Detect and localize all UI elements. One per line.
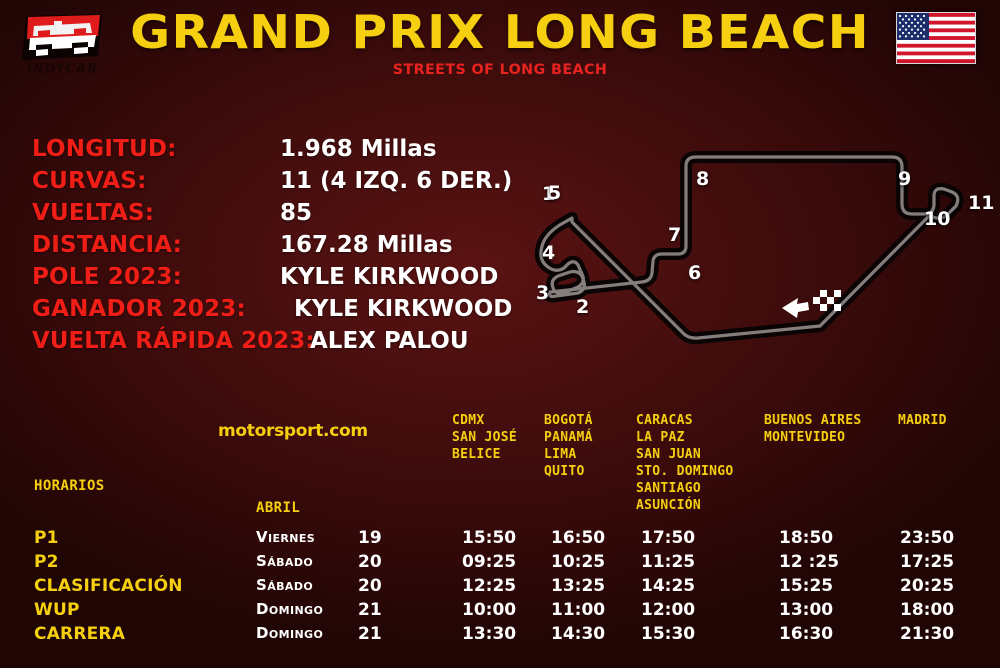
session-time: 14:30 [551, 624, 605, 644]
stat-row-curvas: CURVAS: 11 (4 IZQ. 6 DER.) [32, 168, 532, 200]
timezone-city: SAN JOSÉ [452, 429, 517, 446]
timezone-city: LIMA [544, 446, 593, 463]
schedule-month: ABRIL [256, 500, 300, 516]
session-date: 20 [358, 552, 382, 572]
timezone-column-4: BUENOS AIRES MONTEVIDEO [764, 412, 862, 446]
stat-value: 167.28 Millas [280, 232, 453, 258]
session-time: 15:50 [462, 528, 516, 548]
session-time: 18:50 [779, 528, 833, 548]
timezone-city: SAN JUAN [636, 446, 734, 463]
timezone-city: BOGOTÁ [544, 412, 593, 429]
stat-row-pole: POLE 2023: KYLE KIRKWOOD [32, 264, 532, 296]
corner-label-7: 7 [668, 224, 681, 246]
stat-label: VUELTA RÁPIDA 2023: [32, 328, 315, 354]
session-time: 09:25 [462, 552, 516, 572]
session-time: 11:00 [551, 600, 605, 620]
session-day: Domingo [256, 624, 323, 642]
corner-label-10: 10 [924, 208, 950, 230]
session-time: 20:25 [900, 576, 954, 596]
infographic-root: INDYCAR GRAND PRIX LONG BEACH STREETS OF… [0, 0, 1000, 668]
page-subtitle: STREETS OF LONG BEACH [0, 60, 1000, 80]
timezone-city: PANAMÁ [544, 429, 593, 446]
session-time: 16:30 [779, 624, 833, 644]
timezone-column-1: CDMX SAN JOSÉ BELICE [452, 412, 517, 463]
session-time: 15:30 [641, 624, 695, 644]
corner-label-11: 11 [968, 192, 994, 214]
schedule-table: HORARIOS ABRIL P1 Viernes 19 15:50 16:50… [0, 470, 1000, 668]
stat-value: 1.968 Millas [280, 136, 437, 162]
session-time: 13:00 [779, 600, 833, 620]
corner-label-2: 2 [576, 296, 589, 318]
session-day: Sábado [256, 576, 313, 594]
page-title: GRAND PRIX LONG BEACH [0, 6, 1000, 58]
corner-label-9: 9 [898, 168, 911, 190]
session-name: CARRERA [34, 624, 125, 644]
session-time: 13:30 [462, 624, 516, 644]
session-name: P2 [34, 552, 59, 572]
session-date: 21 [358, 624, 382, 644]
corner-label-8: 8 [696, 168, 709, 190]
schedule-heading: HORARIOS [34, 478, 105, 494]
stat-row-ganador: GANADOR 2023: KYLE KIRKWOOD [32, 296, 532, 328]
session-time: 23:50 [900, 528, 954, 548]
stat-value: 85 [280, 200, 312, 226]
corner-label-5: 5 [548, 182, 561, 204]
table-row: CARRERA Domingo 21 13:30 14:30 15:30 16:… [0, 624, 1000, 648]
stat-value: KYLE KIRKWOOD [280, 264, 498, 290]
session-time: 16:50 [551, 528, 605, 548]
session-time: 12:25 [462, 576, 516, 596]
session-name: P1 [34, 528, 59, 548]
stat-value: ALEX PALOU [310, 328, 469, 354]
title-block: GRAND PRIX LONG BEACH STREETS OF LONG BE… [0, 6, 1000, 80]
stat-value: KYLE KIRKWOOD [294, 296, 512, 322]
stat-label: GANADOR 2023: [32, 296, 246, 322]
session-name: CLASIFICACIÓN [34, 576, 183, 596]
session-time: 12 :25 [779, 552, 839, 572]
session-time: 10:25 [551, 552, 605, 572]
stat-row-longitud: LONGITUD: 1.968 Millas [32, 136, 532, 168]
table-row: CLASIFICACIÓN Sábado 20 12:25 13:25 14:2… [0, 576, 1000, 600]
session-time: 10:00 [462, 600, 516, 620]
session-time: 11:25 [641, 552, 695, 572]
corner-label-3: 3 [536, 282, 549, 304]
session-date: 21 [358, 600, 382, 620]
table-row: WUP Domingo 21 10:00 11:00 12:00 13:00 1… [0, 600, 1000, 624]
timezone-city: MADRID [898, 412, 947, 429]
session-time: 13:25 [551, 576, 605, 596]
circuit-stats: LONGITUD: 1.968 Millas CURVAS: 11 (4 IZQ… [32, 136, 532, 360]
timezone-city: LA PAZ [636, 429, 734, 446]
stat-label: CURVAS: [32, 168, 146, 194]
corner-label-4: 4 [542, 242, 555, 264]
stat-label: DISTANCIA: [32, 232, 182, 258]
circuit-map: 1 2 3 4 5 6 7 8 9 10 11 [520, 130, 1000, 380]
stat-label: LONGITUD: [32, 136, 177, 162]
timezone-city: BUENOS AIRES [764, 412, 862, 429]
session-day: Viernes [256, 528, 315, 546]
session-name: WUP [34, 600, 80, 620]
timezone-column-5: MADRID [898, 412, 947, 429]
session-time: 17:50 [641, 528, 695, 548]
stat-label: POLE 2023: [32, 264, 182, 290]
session-day: Domingo [256, 600, 323, 618]
table-row: P1 Viernes 19 15:50 16:50 17:50 18:50 23… [0, 528, 1000, 552]
stat-label: VUELTAS: [32, 200, 154, 226]
session-time: 14:25 [641, 576, 695, 596]
session-time: 12:00 [641, 600, 695, 620]
session-date: 20 [358, 576, 382, 596]
circuit-map-graphic [520, 130, 1000, 380]
session-time: 17:25 [900, 552, 954, 572]
united-states-flag-icon [896, 12, 976, 64]
flag-graphic [897, 13, 975, 63]
session-date: 19 [358, 528, 382, 548]
stat-row-vueltas: VUELTAS: 85 [32, 200, 532, 232]
session-day: Sábado [256, 552, 313, 570]
header: INDYCAR GRAND PRIX LONG BEACH STREETS OF… [0, 0, 1000, 92]
timezone-city: BELICE [452, 446, 517, 463]
stat-value: 11 (4 IZQ. 6 DER.) [280, 168, 512, 194]
timezone-city: CDMX [452, 412, 517, 429]
timezone-city: CARACAS [636, 412, 734, 429]
timezone-city: MONTEVIDEO [764, 429, 862, 446]
session-time: 18:00 [900, 600, 954, 620]
session-time: 21:30 [900, 624, 954, 644]
table-row: P2 Sábado 20 09:25 10:25 11:25 12 :25 17… [0, 552, 1000, 576]
session-time: 15:25 [779, 576, 833, 596]
stat-row-distancia: DISTANCIA: 167.28 Millas [32, 232, 532, 264]
stat-row-vuelta-rapida: VUELTA RÁPIDA 2023: ALEX PALOU [32, 328, 532, 360]
corner-label-6: 6 [688, 262, 701, 284]
